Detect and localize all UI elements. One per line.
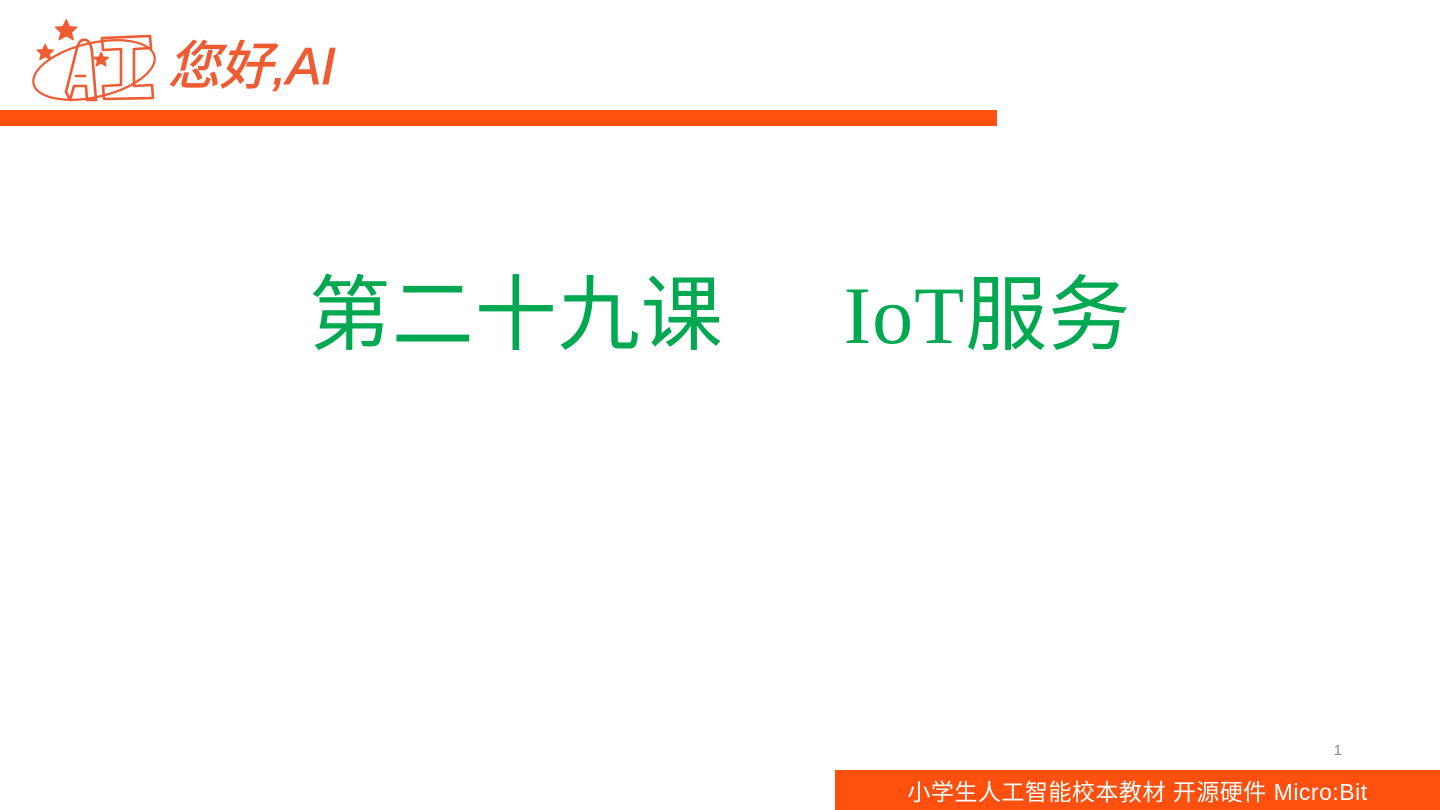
page-number: 1 — [1334, 742, 1342, 759]
nihao-ai-wordmark: 您好,AI — [168, 26, 368, 102]
footer-bar: 小学生人工智能校本教材 开源硬件 Micro:Bit — [835, 770, 1440, 810]
ai-logo-icon — [22, 8, 167, 108]
footer-text: 小学生人工智能校本教材 开源硬件 Micro:Bit — [907, 773, 1367, 807]
wordmark-text: 您好,AI — [168, 38, 336, 96]
page-title: 第二十九课IoT服务 — [0, 268, 1440, 363]
title-topic: IoT服务 — [844, 270, 1131, 361]
presentation-slide: 您好,AI 第二十九课IoT服务 1 小学生人工智能校本教材 开源硬件 Micr… — [0, 0, 1440, 810]
title-lesson: 第二十九课 — [309, 270, 724, 361]
header-rule — [0, 110, 997, 126]
